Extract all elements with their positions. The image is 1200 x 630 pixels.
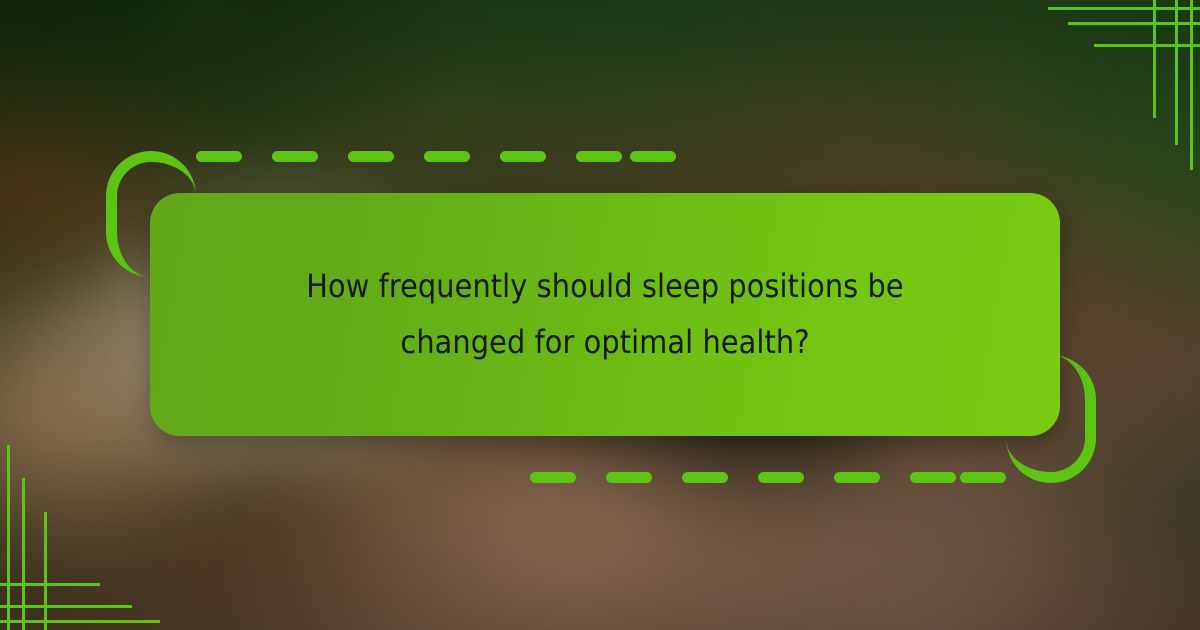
corner-ornament-top-right bbox=[1010, 0, 1200, 200]
ornament-line-v2 bbox=[22, 478, 25, 630]
ornament-line-v3 bbox=[44, 512, 47, 630]
ornament-line-v2 bbox=[1175, 0, 1178, 145]
ornament-line-h3 bbox=[1094, 44, 1200, 47]
poster-canvas: How frequently should sleep positions be… bbox=[0, 0, 1200, 630]
corner-ornament-bottom-left bbox=[0, 420, 190, 630]
ornament-line-h3 bbox=[0, 583, 100, 586]
question-card: How frequently should sleep positions be… bbox=[150, 193, 1060, 436]
ornament-line-v1 bbox=[7, 445, 10, 630]
ornament-line-v3 bbox=[1153, 0, 1156, 118]
ornament-line-h2 bbox=[0, 605, 132, 608]
ornament-line-v1 bbox=[1190, 0, 1193, 170]
question-text: How frequently should sleep positions be… bbox=[225, 259, 985, 369]
dash-run-top bbox=[196, 151, 676, 162]
ornament-line-h2 bbox=[1068, 22, 1200, 25]
dash-run-bottom bbox=[530, 472, 1006, 483]
